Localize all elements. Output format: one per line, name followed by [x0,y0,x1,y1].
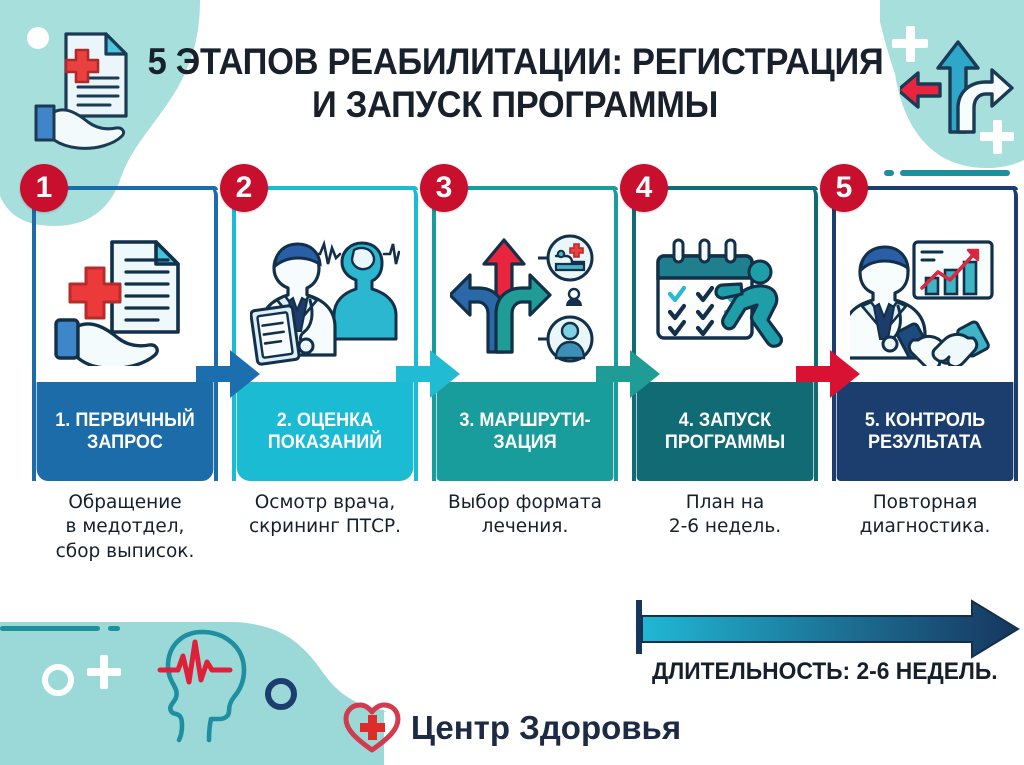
brand-name: Центр Здоровья [411,709,681,747]
duration-arrow [630,598,1024,660]
duration-indicator: ДЛИТЕЛЬНОСТЬ: 2-6 НЕДЕЛЬ. [630,598,1024,694]
arrow-step-2-to-3 [396,346,462,402]
step-2-badge: 2 [220,164,268,212]
step-1-card-frame: 1 1. ПЕРВИЧНЫЙ ЗАПРОС [32,186,218,481]
hand-holding-document-icon [22,24,138,150]
step-4-number: 4 [636,173,653,203]
step-3-badge: 3 [420,164,468,212]
step-4-badge: 4 [620,164,668,212]
step-1-number: 1 [36,173,53,203]
hand-holding-medical-document-icon [50,234,200,366]
infographic-canvas: 5 ЭТАПОВ РЕАБИЛИТАЦИИ: РЕГИСТРАЦИЯ И ЗАП… [0,0,1024,765]
duration-label: ДЛИТЕЛЬНОСТЬ: 2-6 НЕДЕЛЬ. [652,658,1005,686]
routing-three-way-arrows-icon [450,234,600,366]
step-3-label: 3. МАРШРУТИ- ЗАЦИЯ [437,382,614,481]
step-2-label: 2. ОЦЕНКА ПОКАЗАНИЙ [237,382,414,481]
step-5-label: 5. КОНТРОЛЬ РЕЗУЛЬТАТА [837,382,1014,481]
arrow-step-1-to-2 [196,346,262,402]
doctor-handshake-growth-chart-icon [850,234,1000,366]
footer-branding: Центр Здоровья [0,697,1024,759]
step-card-5[interactable]: 5 [832,186,1018,481]
step-2-caption: Осмотр врача, скрининг ПТСР. [218,491,432,540]
step-3-number: 3 [436,173,453,203]
step-5-number: 5 [836,173,853,203]
arrow-step-3-to-4 [596,346,662,402]
step-1-badge: 1 [20,164,68,212]
step-card-3[interactable]: 3 [432,186,618,481]
doctor-assessment-patient-icon [250,234,400,366]
heart-with-medical-cross-logo [343,702,401,754]
page-title: 5 ЭТАПОВ РЕАБИЛИТАЦИИ: РЕГИСТРАЦИЯ И ЗАП… [148,40,883,127]
step-3-caption: Выбор формата лечения. [418,491,632,540]
step-2-number: 2 [236,173,253,203]
step-1-label: 1. ПЕРВИЧНЫЙ ЗАПРОС [37,382,214,481]
step-card-1[interactable]: 1 1. ПЕРВИЧНЫЙ ЗАПРОС Обращение в ме [32,186,218,481]
three-way-direction-arrows-icon [900,22,1016,146]
calendar-checklist-runner-icon [650,234,800,366]
title-line-2: И ЗАПУСК ПРОГРАММЫ [148,83,883,126]
step-4-caption: План на 2-6 недель. [618,491,832,540]
step-4-card-frame: 4 [632,186,818,481]
step-5-caption: Повторная диагностика. [818,491,1024,540]
title-line-1: 5 ЭТАПОВ РЕАБИЛИТАЦИИ: РЕГИСТРАЦИЯ [148,40,883,83]
step-4-label: 4. ЗАПУСК ПРОГРАММЫ [637,382,814,481]
step-card-4[interactable]: 4 [632,186,818,481]
step-2-card-frame: 2 [232,186,418,481]
step-card-2[interactable]: 2 [232,186,418,481]
step-5-badge: 5 [820,164,868,212]
step-1-caption: Обращение в медотдел, сбор выписок. [18,491,232,564]
arrow-step-4-to-5 [796,346,862,402]
steps-row: 1 1. ПЕРВИЧНЫЙ ЗАПРОС Обращение в ме [0,186,1024,586]
step-3-card-frame: 3 [432,186,618,481]
step-5-card-frame: 5 [832,186,1018,481]
